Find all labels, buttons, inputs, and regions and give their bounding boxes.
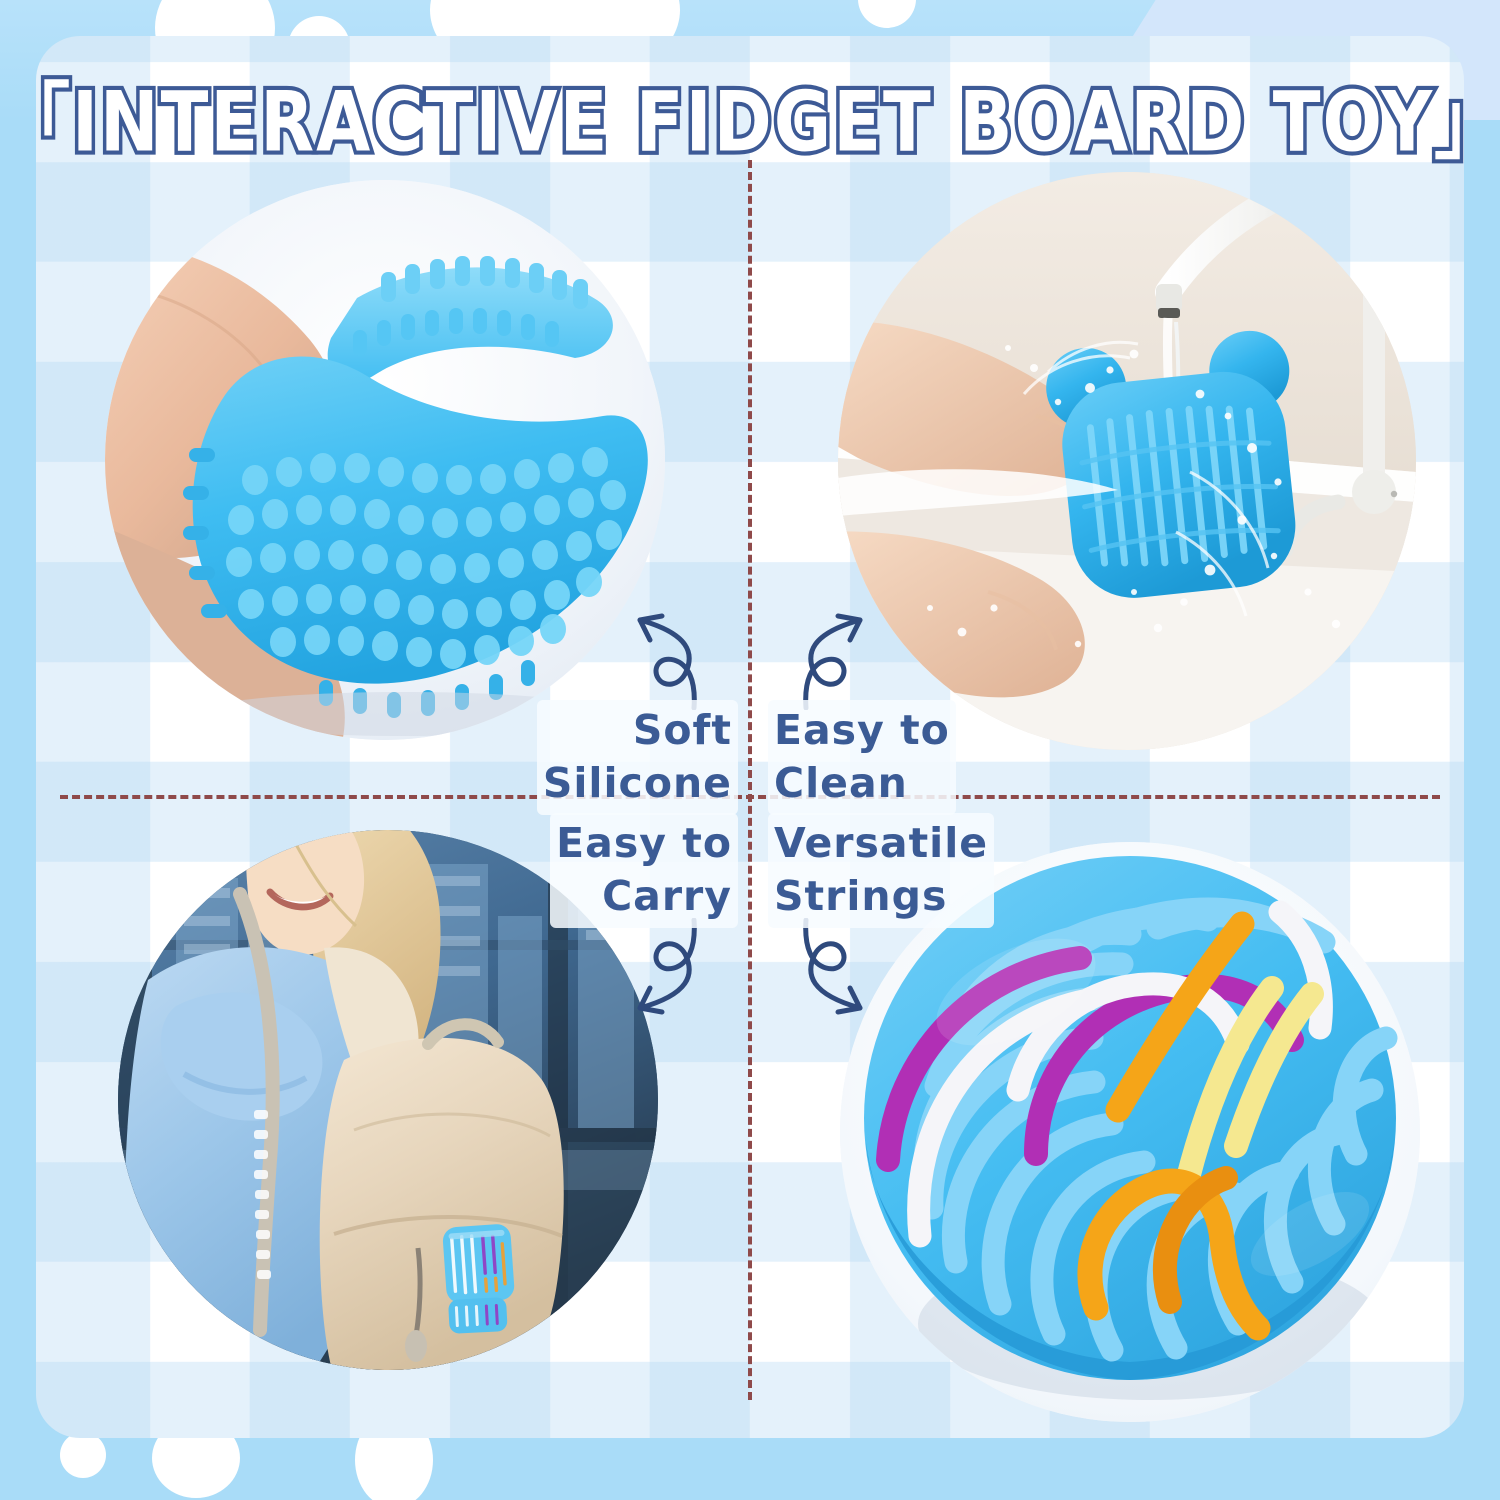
feature-label-easy-to-clean: Easy to Clean bbox=[768, 700, 956, 815]
photo-versatile-strings bbox=[840, 842, 1420, 1422]
curly-arrow-down-left-icon bbox=[618, 918, 738, 1030]
photo-easy-to-clean bbox=[838, 172, 1416, 750]
curly-arrow-up-right-icon bbox=[762, 598, 882, 710]
photo-soft-silicone bbox=[105, 180, 665, 740]
curly-arrow-down-right-icon bbox=[762, 918, 882, 1030]
feature-label-soft-silicone: Soft Silicone bbox=[537, 700, 738, 815]
curly-arrow-up-left-icon bbox=[618, 598, 738, 710]
infographic-canvas: 「INTERACTIVE FIDGET BOARD TOY」 bbox=[0, 0, 1500, 1500]
horizontal-dashed-divider bbox=[60, 795, 1440, 799]
feature-label-versatile-strings: Versatile Strings bbox=[768, 813, 994, 928]
page-title: 「INTERACTIVE FIDGET BOARD TOY」 bbox=[0, 56, 1500, 157]
page-title-text: 「INTERACTIVE FIDGET BOARD TOY」 bbox=[0, 56, 1500, 175]
vertical-dashed-divider bbox=[748, 160, 752, 1400]
feature-label-easy-to-carry: Easy to Carry bbox=[550, 813, 738, 928]
decor-bubble-bottom-3 bbox=[60, 1432, 106, 1478]
